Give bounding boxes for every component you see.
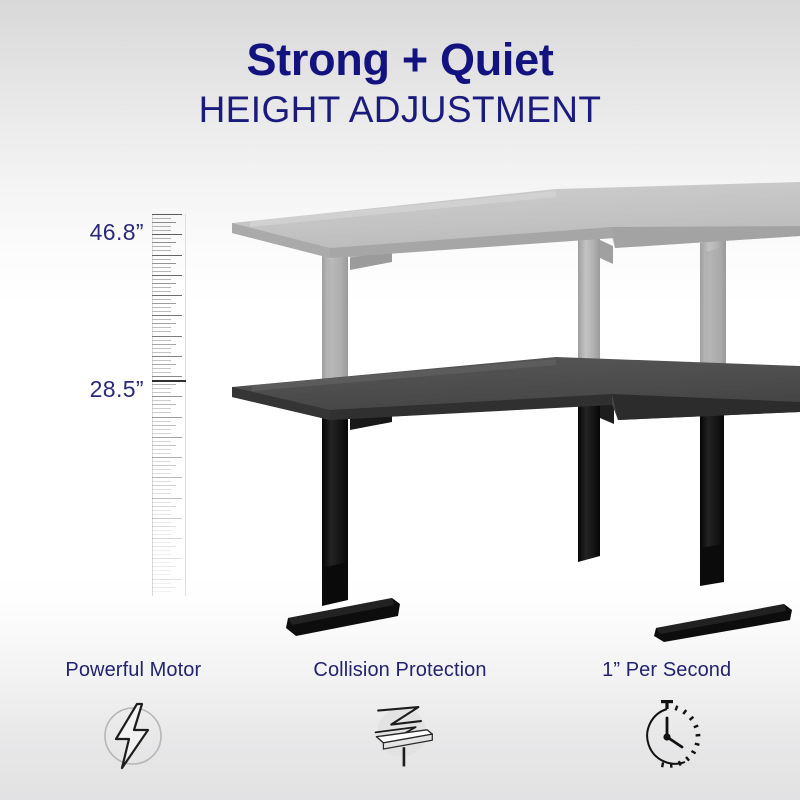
heading-block: Strong + Quiet HEIGHT ADJUSTMENT [0,36,800,130]
ruler-tick [152,376,182,377]
height-ruler [152,214,186,596]
ruler-tick [152,303,176,304]
ruler-tick [152,502,171,503]
ruler-tick [152,477,182,478]
ruler-tick [152,579,182,580]
feature-collision-protection: Collision Protection [267,660,534,800]
ruler-tick [152,315,182,316]
ruler-tick [152,583,171,584]
ruler-tick [152,396,182,397]
ruler-tick [152,445,176,446]
ruler-tick [152,275,182,276]
raised-desk-leg-corner [578,222,613,378]
ruler-tick [152,307,171,308]
feature-powerful-motor: Powerful Motor [0,660,267,800]
ruler-tick [152,336,182,337]
feature-speed: 1” Per Second [533,660,800,800]
ruler-tick [152,400,171,401]
ruler-tick [152,417,182,418]
ruler-tick [152,392,171,393]
lowered-desk-leg-rear-right [654,398,792,642]
raised-desk-leg-rear-right [700,236,726,374]
lowered-desk-leg-corner [578,384,614,562]
ruler-tick [152,255,182,256]
ruler-tick [152,242,176,243]
ruler-tick [152,380,186,382]
ruler-tick [152,457,182,458]
ruler-tick [152,267,171,268]
ruler-tick [152,279,171,280]
ruler-tick [152,570,171,571]
lowered-desk-leg-left [286,406,400,636]
ruler-tick [152,412,171,413]
ruler-tick [152,542,171,543]
ruler-tick [152,485,176,486]
ruler-tick [152,522,171,523]
ruler-tick [152,550,171,551]
ruler-tick [152,291,171,292]
ruler-tick-marks [152,214,186,596]
ruler-tick [152,226,171,227]
ruler-tick [152,530,171,531]
ruler-tick [152,218,171,219]
ruler-tick [152,481,171,482]
stopwatch-icon [619,696,715,774]
ruler-tick [152,319,171,320]
ruler-tick [152,425,176,426]
ruler-tick [152,214,182,215]
ruler-tick [152,421,171,422]
page-subtitle: HEIGHT ADJUSTMENT [0,89,800,130]
ruler-tick [152,259,171,260]
ruler-tick [152,441,171,442]
feature-label-collision-protection: Collision Protection [313,660,486,680]
ruler-tick [152,510,171,511]
feature-row: Powerful Motor Collision Protection 1” [0,660,800,800]
ruler-tick [152,364,176,365]
ruler-tick [152,591,171,592]
ruler-tick [152,234,182,235]
ruler-tick [152,372,171,373]
ruler-tick [152,246,171,247]
ruler-tick [152,388,171,389]
ruler-tick [152,311,171,312]
height-label-min: 28.5” [20,376,144,403]
lowered-desk [232,357,800,642]
ruler-tick [152,384,176,385]
ruler-tick [152,344,176,345]
ruler-tick [152,489,171,490]
ruler-tick [152,514,171,515]
lightning-bolt-icon [85,696,181,774]
ruler-tick [152,506,176,507]
ruler-tick [152,299,171,300]
ruler-tick [152,429,171,430]
ruler-tick [152,554,171,555]
ruler-tick [152,437,182,438]
ruler-tick [152,546,176,547]
ruler-tick [152,566,176,567]
infographic-canvas: Strong + Quiet HEIGHT ADJUSTMENT 46.8” 2… [0,0,800,800]
ruler-tick [152,587,176,588]
ruler-tick [152,498,182,499]
ruler-tick [152,348,171,349]
ruler-tick [152,453,171,454]
height-label-max: 46.8” [20,219,144,246]
ruler-tick [152,287,171,288]
ruler-tick [152,465,176,466]
ruler-tick [152,222,176,223]
ruler-tick [152,473,171,474]
lowered-desk-top [232,357,800,420]
ruler-tick [152,558,182,559]
ruler-tick [152,449,171,450]
ruler-tick [152,461,171,462]
ruler-tick [152,250,171,251]
collision-desktop-icon [352,696,448,774]
ruler-tick [152,526,176,527]
page-title: Strong + Quiet [0,36,800,85]
ruler-tick [152,238,171,239]
ruler-tick [152,433,171,434]
ruler-tick [152,518,182,519]
ruler-tick [152,331,171,332]
ruler-tick [152,538,182,539]
ruler-tick [152,368,171,369]
ruler-tick [152,263,176,264]
ruler-tick [152,327,171,328]
ruler-tick [152,230,171,231]
ruler-tick [152,323,176,324]
ruler-tick [152,352,171,353]
ruler-tick [152,283,176,284]
ruler-tick [152,271,171,272]
ruler-tick [152,493,171,494]
feature-label-speed: 1” Per Second [602,660,731,680]
ruler-tick [152,534,171,535]
ruler-tick [152,404,176,405]
ruler-tick [152,360,171,361]
feature-label-powerful-motor: Powerful Motor [65,660,201,680]
ruler-tick [152,408,171,409]
ruler-tick [152,356,182,357]
ruler-tick [152,340,171,341]
ruler-tick [152,295,182,296]
ruler-tick [152,469,171,470]
ruler-tick [152,562,171,563]
ruler-tick [152,574,171,575]
